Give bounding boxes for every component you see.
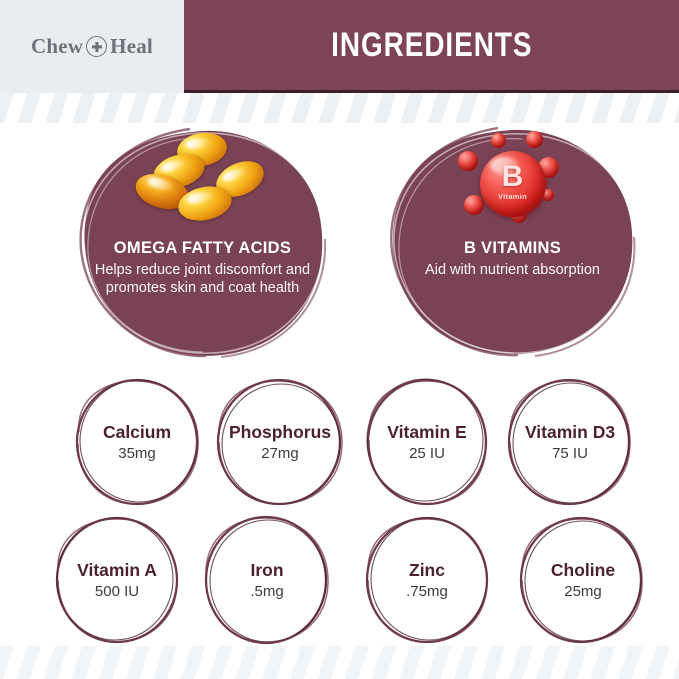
nutrient-value: 35mg bbox=[118, 445, 156, 462]
page-title: INGREDIENTS bbox=[331, 26, 532, 65]
feature-description: Aid with nutrient absorption bbox=[425, 262, 600, 280]
nutrient-text: Calcium 35mg bbox=[62, 374, 212, 510]
omega-icon-zone bbox=[70, 125, 335, 237]
feature-title: OMEGA FATTY ACIDS bbox=[114, 239, 291, 257]
feature-b-vitamins: B Vitamin B VITAMINS Aid with nutrient a… bbox=[380, 125, 645, 363]
nutrient-circle-vitamin-a: Vitamin A 500 IU bbox=[42, 512, 192, 648]
nutrient-text: Iron .5mg bbox=[192, 512, 342, 648]
bvitamin-icon-zone: B Vitamin bbox=[380, 125, 645, 237]
nutrient-value: 500 IU bbox=[95, 583, 139, 600]
header: Chew Heal INGREDIENTS bbox=[0, 0, 679, 93]
logo-word-heal: Heal bbox=[110, 36, 153, 57]
nutrient-circle-vitamin-e: Vitamin E 25 IU bbox=[352, 374, 502, 510]
nutrient-value: 25mg bbox=[564, 583, 602, 600]
fish-oil-softgel-capsules-icon bbox=[133, 131, 273, 231]
logo-word-chew: Chew bbox=[31, 36, 83, 57]
nutrient-circle-phosphorus: Phosphorus 27mg bbox=[205, 374, 355, 510]
nutrient-value: 75 IU bbox=[552, 445, 588, 462]
stripe-band-bottom bbox=[0, 646, 679, 679]
brand-logo: Chew Heal bbox=[31, 36, 153, 57]
nutrient-circle-iron: Iron .5mg bbox=[192, 512, 342, 648]
brand-panel: Chew Heal bbox=[0, 0, 184, 93]
b-vitamin-sphere-icon: B Vitamin bbox=[454, 129, 572, 234]
b-vitamin-main-sphere: B Vitamin bbox=[480, 151, 546, 217]
circled-plus-icon bbox=[86, 36, 107, 57]
nutrient-name: Phosphorus bbox=[229, 422, 331, 442]
nutrient-name: Calcium bbox=[103, 422, 171, 442]
nutrient-text: Zinc .75mg bbox=[352, 512, 502, 648]
nutrient-circle-calcium: Calcium 35mg bbox=[62, 374, 212, 510]
nutrient-circle-zinc: Zinc .75mg bbox=[352, 512, 502, 648]
feature-omega-fatty-acids: OMEGA FATTY ACIDS Helps reduce joint dis… bbox=[70, 125, 335, 363]
nutrient-text: Phosphorus 27mg bbox=[205, 374, 355, 510]
nutrient-name: Vitamin A bbox=[77, 560, 157, 580]
nutrient-name: Zinc bbox=[409, 560, 445, 580]
feature-content: OMEGA FATTY ACIDS Helps reduce joint dis… bbox=[70, 125, 335, 363]
nutrient-value: .75mg bbox=[406, 583, 448, 600]
nutrient-name: Vitamin D3 bbox=[525, 422, 615, 442]
stripe-band-top bbox=[0, 93, 679, 123]
feature-content: B Vitamin B VITAMINS Aid with nutrient a… bbox=[380, 125, 645, 363]
feature-section: OMEGA FATTY ACIDS Helps reduce joint dis… bbox=[0, 123, 679, 368]
nutrient-text: Choline 25mg bbox=[508, 512, 658, 648]
nutrient-value: 27mg bbox=[261, 445, 299, 462]
feature-title: B VITAMINS bbox=[464, 239, 561, 257]
nutrient-text: Vitamin A 500 IU bbox=[42, 512, 192, 648]
nutrient-circle-choline: Choline 25mg bbox=[508, 512, 658, 648]
nutrient-name: Iron bbox=[250, 560, 283, 580]
header-banner: INGREDIENTS bbox=[184, 0, 679, 90]
nutrient-grid: Calcium 35mg Phosphorus 27mg Vitamin bbox=[0, 372, 679, 646]
nutrient-text: Vitamin E 25 IU bbox=[352, 374, 502, 510]
b-vitamin-sublabel: Vitamin bbox=[498, 192, 527, 201]
nutrient-circle-vitamin-d3: Vitamin D3 75 IU bbox=[495, 374, 645, 510]
nutrient-value: 25 IU bbox=[409, 445, 445, 462]
nutrient-value: .5mg bbox=[250, 583, 283, 600]
nutrient-name: Vitamin E bbox=[387, 422, 466, 442]
nutrient-name: Choline bbox=[551, 560, 615, 580]
feature-description: Helps reduce joint discomfort and promot… bbox=[90, 262, 315, 297]
nutrient-text: Vitamin D3 75 IU bbox=[495, 374, 645, 510]
ingredients-infographic: Chew Heal INGREDIENTS bbox=[0, 0, 679, 679]
b-vitamin-letter: B bbox=[502, 163, 524, 192]
